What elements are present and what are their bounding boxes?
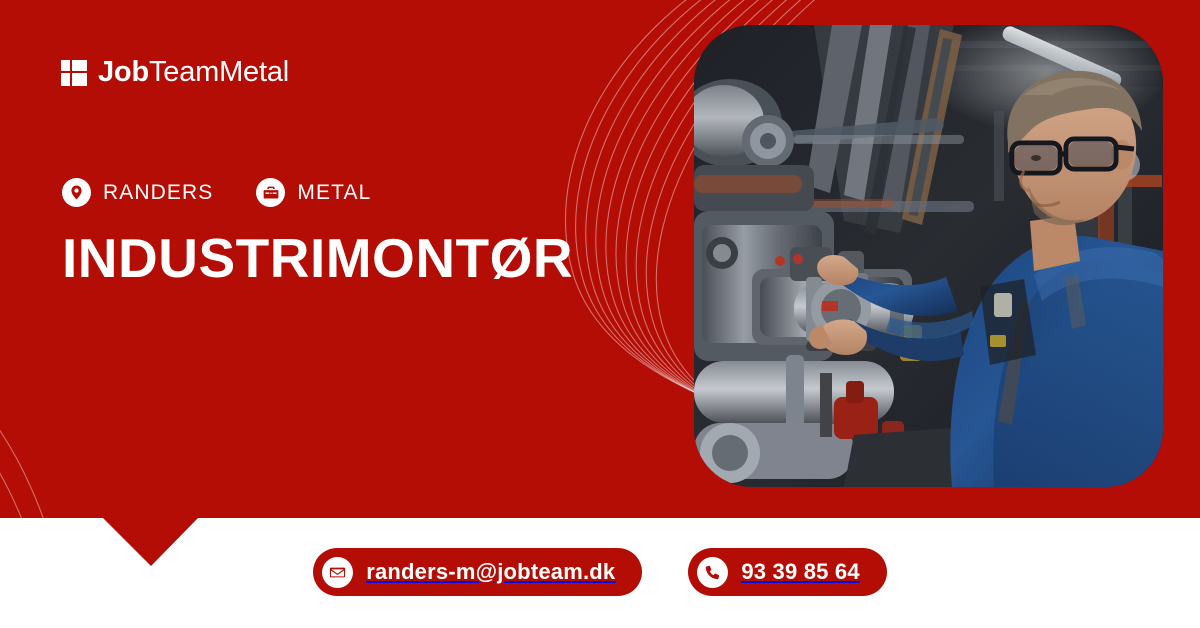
- tag-category-metal: METAL: [256, 178, 371, 207]
- brand-logo-text-light: TeamMetal: [149, 56, 289, 88]
- brand-logo: JobTeamMetal: [61, 58, 289, 87]
- tag-location-randers: RANDERS: [62, 178, 213, 207]
- brand-logo-text: JobTeamMetal: [98, 58, 289, 87]
- contact-email-button[interactable]: randers-m@jobteam.dk: [313, 548, 642, 596]
- toolbox-icon: [256, 178, 285, 207]
- job-meta-tags: RANDERS METAL: [62, 178, 371, 207]
- hero-photo-industrial-technician: [694, 25, 1163, 487]
- danish-flag-grid-icon: [61, 60, 87, 86]
- envelope-icon: [322, 557, 353, 588]
- phone-handset-icon: [697, 557, 728, 588]
- contact-email-label: randers-m@jobteam.dk: [366, 561, 615, 583]
- contact-phone-label: 93 39 85 64: [741, 561, 859, 583]
- location-pin-icon: [62, 178, 91, 207]
- tag-category-label: METAL: [297, 182, 371, 203]
- job-title: INDUSTRIMONTØR: [62, 228, 573, 289]
- tag-location-label: RANDERS: [103, 182, 213, 203]
- brand-logo-text-bold: Job: [98, 56, 149, 88]
- contact-phone-button[interactable]: 93 39 85 64: [688, 548, 886, 596]
- contact-bar: randers-m@jobteam.dk 93 39 85 64: [0, 548, 1200, 596]
